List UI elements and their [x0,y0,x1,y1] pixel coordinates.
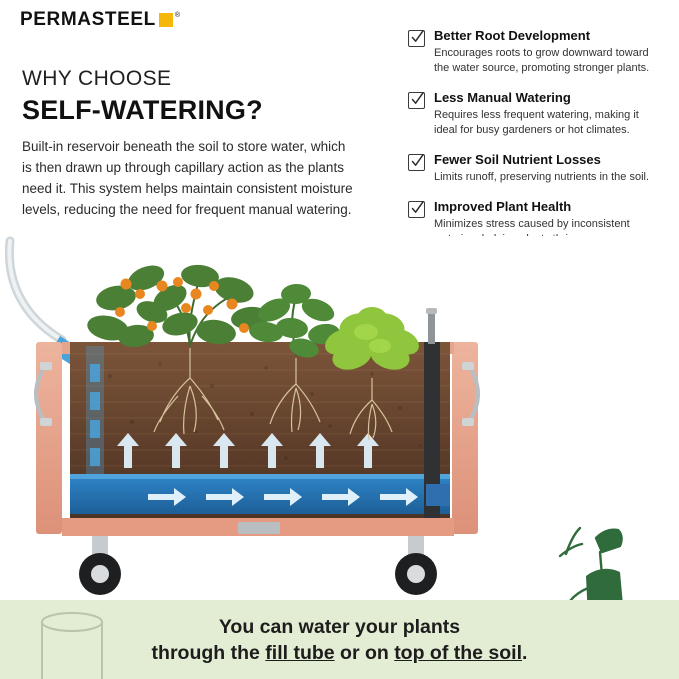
benefit-title: Improved Plant Health [434,199,658,215]
planter-cutaway-svg [0,236,679,600]
intro-paragraph: Built-in reservoir beneath the soil to s… [22,136,357,220]
checkbox-icon [408,201,425,218]
fill-tube-cylinder-icon [16,600,136,679]
drain-stem [426,308,437,344]
infographic-page: PERMASTEEL ® WHY CHOOSE SELF-WATERING? B… [0,0,679,679]
headline-line-2: SELF-WATERING? [22,94,372,126]
caption-fill-tube: fill tube [265,642,334,664]
benefit-title: Fewer Soil Nutrient Losses [434,152,658,168]
headline-block: WHY CHOOSE SELF-WATERING? [22,66,372,126]
benefit-item: Fewer Soil Nutrient Losses Limits runoff… [408,152,658,185]
registered-trademark-symbol: ® [175,12,180,19]
benefit-description: Encourages roots to grow downward toward… [434,46,658,76]
benefit-title: Better Root Development [434,28,658,44]
checkbox-icon [408,30,425,47]
planter-illustration [0,236,679,600]
person-watering-icon [536,528,624,600]
caption-line-2-mid: or on [335,642,395,664]
benefit-item: Less Manual Watering Requires less frequ… [408,90,658,138]
benefit-item: Better Root Development Encourages roots… [408,28,658,76]
caster-wheel-right [395,536,437,595]
caption-line-2-end: . [522,642,527,664]
brand-square-icon [159,13,173,27]
planter-interior [70,342,450,528]
benefits-list: Better Root Development Encourages roots… [408,28,658,261]
benefit-title: Less Manual Watering [434,90,658,106]
brand-name: PERMASTEEL [20,10,156,30]
caster-wheel-left [79,536,121,595]
headline-line-1: WHY CHOOSE [22,66,372,92]
fill-stream [86,346,104,476]
caption-band: You can water your plants through the fi… [0,600,679,679]
checkbox-icon [408,154,425,171]
caption-top-of-soil: top of the soil [394,642,522,664]
front-latch [238,522,280,534]
brand-logo: PERMASTEEL ® [20,10,180,30]
benefit-description: Requires less frequent watering, making … [434,108,658,138]
caption-line-2-pre: through the [152,642,266,664]
benefit-description: Limits runoff, preserving nutrients in t… [434,170,658,185]
checkbox-icon [408,92,425,109]
tomato-plant [85,261,270,349]
